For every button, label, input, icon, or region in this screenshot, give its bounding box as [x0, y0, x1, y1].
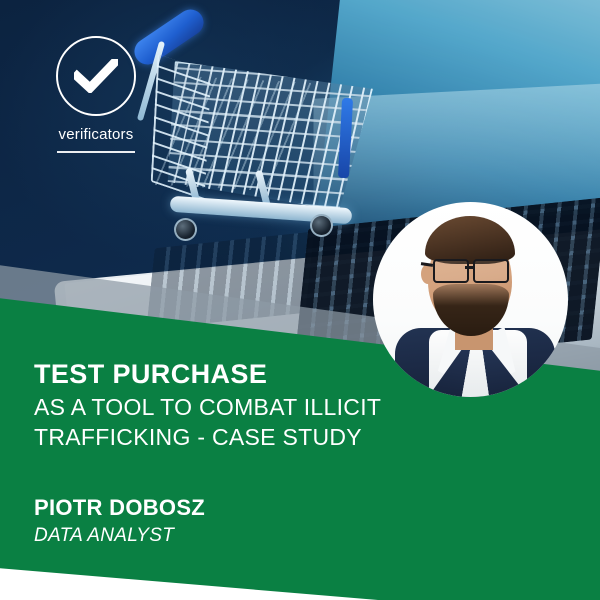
cart-wheel-rear — [310, 214, 333, 237]
eyeglasses-icon — [431, 259, 513, 279]
speaker-name: PIOTR DOBOSZ — [34, 496, 205, 520]
checkmark-in-circle-icon — [56, 36, 136, 116]
cart-back-panel — [151, 54, 212, 200]
avatar-glasses-bridge — [465, 266, 475, 269]
avatar-hair — [425, 216, 515, 264]
speaker-role: DATA ANALYST — [34, 526, 205, 547]
page-subtitle-line-2: TRAFFICKING - CASE STUDY — [34, 423, 454, 453]
shopping-cart-image — [118, 6, 398, 286]
poster-card: verificators TEST PURCHASE AS A TOOL TO … — [0, 0, 600, 600]
page-subtitle-line-1: AS A TOOL TO COMBAT ILLICIT — [34, 393, 454, 423]
avatar-lens-left — [433, 259, 469, 283]
speaker-credit: PIOTR DOBOSZ DATA ANALYST — [34, 496, 205, 547]
brand-logo: verificators — [36, 36, 156, 153]
brand-underline-rule — [57, 151, 135, 153]
cart-wheel-front — [174, 218, 197, 241]
page-subtitle: AS A TOOL TO COMBAT ILLICIT TRAFFICKING … — [34, 393, 454, 453]
page-title: TEST PURCHASE — [34, 360, 454, 389]
headline-block: TEST PURCHASE AS A TOOL TO COMBAT ILLICI… — [34, 360, 454, 453]
brand-name: verificators — [36, 127, 156, 142]
avatar-lens-right — [473, 259, 509, 283]
